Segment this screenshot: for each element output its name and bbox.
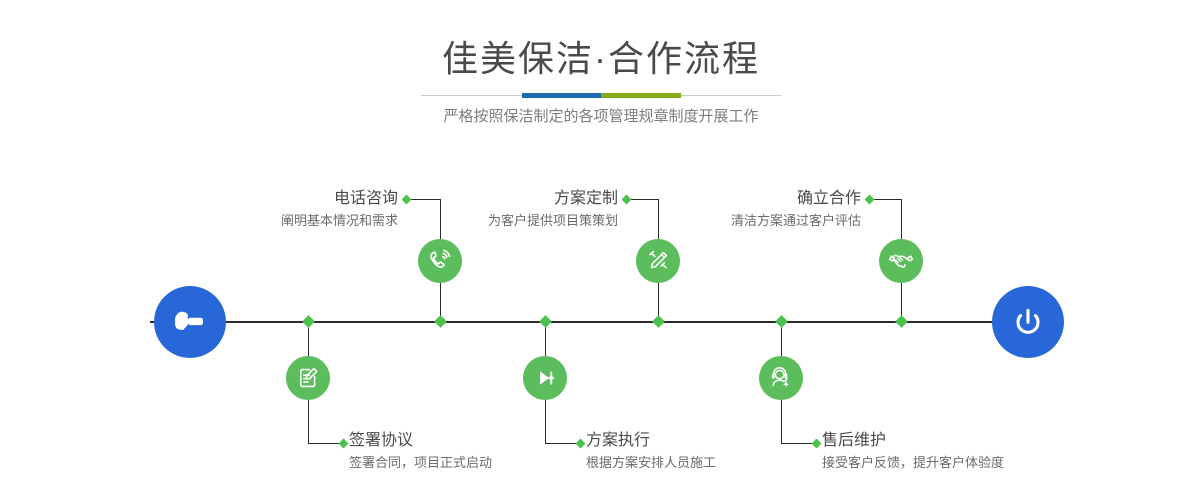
- node-icon-plan-custom: [636, 239, 680, 283]
- timeline-start-node: [154, 286, 226, 358]
- cooperation-process-infographic: 佳美保洁·合作流程 严格按照保洁制定的各项管理规章制度开展工作: [0, 0, 1202, 502]
- pointing-hand-icon: [170, 302, 210, 342]
- power-icon: [1008, 302, 1048, 342]
- step-title: 方案定制: [413, 188, 618, 210]
- step-desc: 接受客户反馈，提升客户体验度: [822, 452, 1122, 474]
- label-step-plan-execute: 方案执行 根据方案安排人员施工: [586, 430, 846, 474]
- axis-marker-confirm-cooperation: [895, 315, 908, 328]
- label-step-phone-consult: 电话咨询 阐明基本情况和需求: [193, 188, 398, 232]
- step-desc: 阐明基本情况和需求: [193, 210, 398, 232]
- axis-marker-plan-execute: [539, 315, 552, 328]
- node-icon-plan-execute: [523, 356, 567, 400]
- axis-marker-after-sales: [775, 315, 788, 328]
- phone-call-icon: [426, 247, 454, 275]
- pencil-design-icon: [644, 247, 672, 275]
- step-desc: 为客户提供项目策策划: [413, 210, 618, 232]
- node-icon-phone-consult: [418, 239, 462, 283]
- node-icon-confirm-cooperation: [879, 239, 923, 283]
- play-forward-icon: [531, 364, 559, 392]
- step-title: 售后维护: [822, 430, 1122, 452]
- axis-marker-phone-consult: [434, 315, 447, 328]
- timeline-end-node: [992, 286, 1064, 358]
- label-step-confirm-cooperation: 确立合作 清洁方案通过客户评估: [656, 188, 861, 232]
- timeline-axis: [150, 321, 1055, 323]
- axis-marker-plan-custom: [652, 315, 665, 328]
- step-desc: 清洁方案通过客户评估: [656, 210, 861, 232]
- node-icon-after-sales: [759, 356, 803, 400]
- label-marker-phone-consult: [402, 195, 412, 205]
- document-pen-icon: [294, 364, 322, 392]
- label-step-after-sales: 售后维护 接受客户反馈，提升客户体验度: [822, 430, 1122, 474]
- label-step-plan-custom: 方案定制 为客户提供项目策策划: [413, 188, 618, 232]
- connector-h-sign-agreement: [308, 443, 342, 444]
- headset-support-icon: [767, 364, 795, 392]
- step-title: 签署协议: [349, 430, 609, 452]
- label-marker-sign-agreement: [339, 439, 349, 449]
- step-title: 电话咨询: [193, 188, 398, 210]
- step-title: 确立合作: [656, 188, 861, 210]
- label-step-sign-agreement: 签署协议 签署合同，项目正式启动: [349, 430, 609, 474]
- step-desc: 根据方案安排人员施工: [586, 452, 846, 474]
- axis-marker-sign-agreement: [302, 315, 315, 328]
- label-marker-plan-custom: [622, 195, 632, 205]
- label-marker-confirm-cooperation: [865, 195, 875, 205]
- handshake-icon: [887, 247, 915, 275]
- step-desc: 签署合同，项目正式启动: [349, 452, 609, 474]
- node-icon-sign-agreement: [286, 356, 330, 400]
- step-title: 方案执行: [586, 430, 846, 452]
- process-timeline: 电话咨询 阐明基本情况和需求: [0, 0, 1202, 502]
